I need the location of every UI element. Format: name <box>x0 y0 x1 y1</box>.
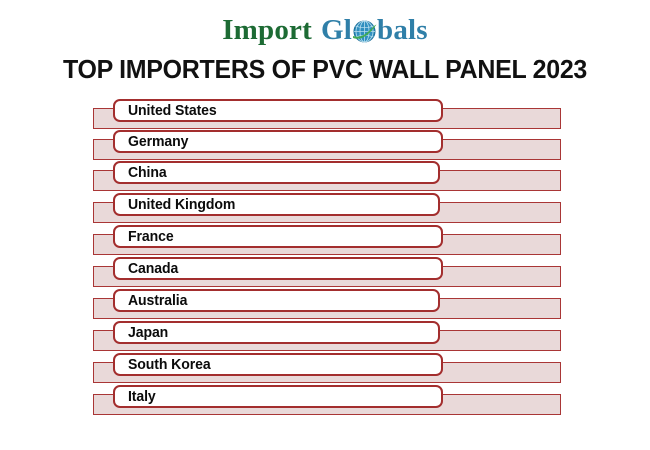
country-label: Germany <box>128 134 188 150</box>
chart-row: China <box>0 161 650 192</box>
country-label-plate: Germany <box>113 130 443 153</box>
country-label-plate: United States <box>113 99 443 122</box>
country-label: Italy <box>128 389 156 405</box>
chart-row: Australia <box>0 289 650 320</box>
chart-row: Italy <box>0 385 650 416</box>
country-label: Canada <box>128 261 178 277</box>
chart-row: United Kingdom <box>0 193 650 224</box>
brand-logo-text: Import Gl bals <box>222 16 428 45</box>
brand-logo: Import Gl bals <box>0 12 650 48</box>
country-label-plate: United Kingdom <box>113 193 440 216</box>
country-label: China <box>128 165 167 181</box>
country-label-plate: China <box>113 161 440 184</box>
country-label: Japan <box>128 325 168 341</box>
page-title: TOP IMPORTERS OF PVC WALL PANEL 2023 <box>13 54 637 85</box>
brand-word-import: Import <box>222 16 321 45</box>
globe-icon <box>352 19 377 44</box>
country-label: France <box>128 229 174 245</box>
country-label-plate: Japan <box>113 321 440 344</box>
chart-row: Germany <box>0 130 650 161</box>
brand-word-globals-prefix: Gl <box>321 16 352 45</box>
chart-row: United States <box>0 99 650 130</box>
chart-row: South Korea <box>0 353 650 384</box>
country-label-plate: France <box>113 225 443 248</box>
country-label-plate: Canada <box>113 257 443 280</box>
chart-row: France <box>0 225 650 256</box>
country-label-plate: Australia <box>113 289 440 312</box>
chart-row: Canada <box>0 257 650 288</box>
infographic-canvas: Import Gl bals TOP I <box>0 0 650 450</box>
country-label: South Korea <box>128 357 211 373</box>
brand-word-globals-suffix: bals <box>377 16 428 45</box>
bar-chart: United States Germany China United Kingd… <box>0 99 650 417</box>
chart-row: Japan <box>0 321 650 352</box>
country-label-plate: Italy <box>113 385 443 408</box>
country-label: United Kingdom <box>128 197 235 213</box>
country-label: Australia <box>128 293 187 309</box>
country-label-plate: South Korea <box>113 353 443 376</box>
country-label: United States <box>128 103 217 119</box>
